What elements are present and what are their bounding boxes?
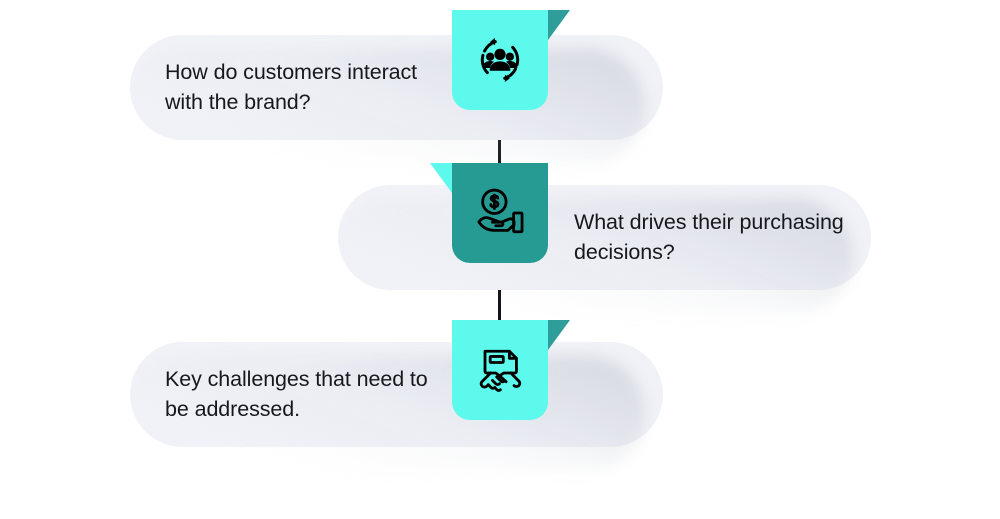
flow-step-card-2[interactable]: What drives their purchasing decisions? [338,185,871,290]
flow-step-icon-tile-2[interactable] [452,163,548,263]
flow-step-icon-tile-3[interactable] [452,320,548,420]
flow-step-text-2: What drives their purchasing decisions? [574,208,871,266]
flow-step-icon-tile-1[interactable] [452,10,548,110]
flow-step-text-3: Key challenges that need to be addressed… [165,365,455,423]
customers-cycle-icon [470,30,530,90]
flow-step-text-1: How do customers interact with the brand… [165,58,455,116]
hand-holding-dollar-coin-icon [470,183,530,243]
diagram-canvas: How do customers interact with the brand… [0,0,1000,519]
flow-step-card-1[interactable]: How do customers interact with the brand… [130,35,663,140]
handshake-document-icon [470,340,530,400]
flow-step-card-3[interactable]: Key challenges that need to be addressed… [130,342,663,447]
